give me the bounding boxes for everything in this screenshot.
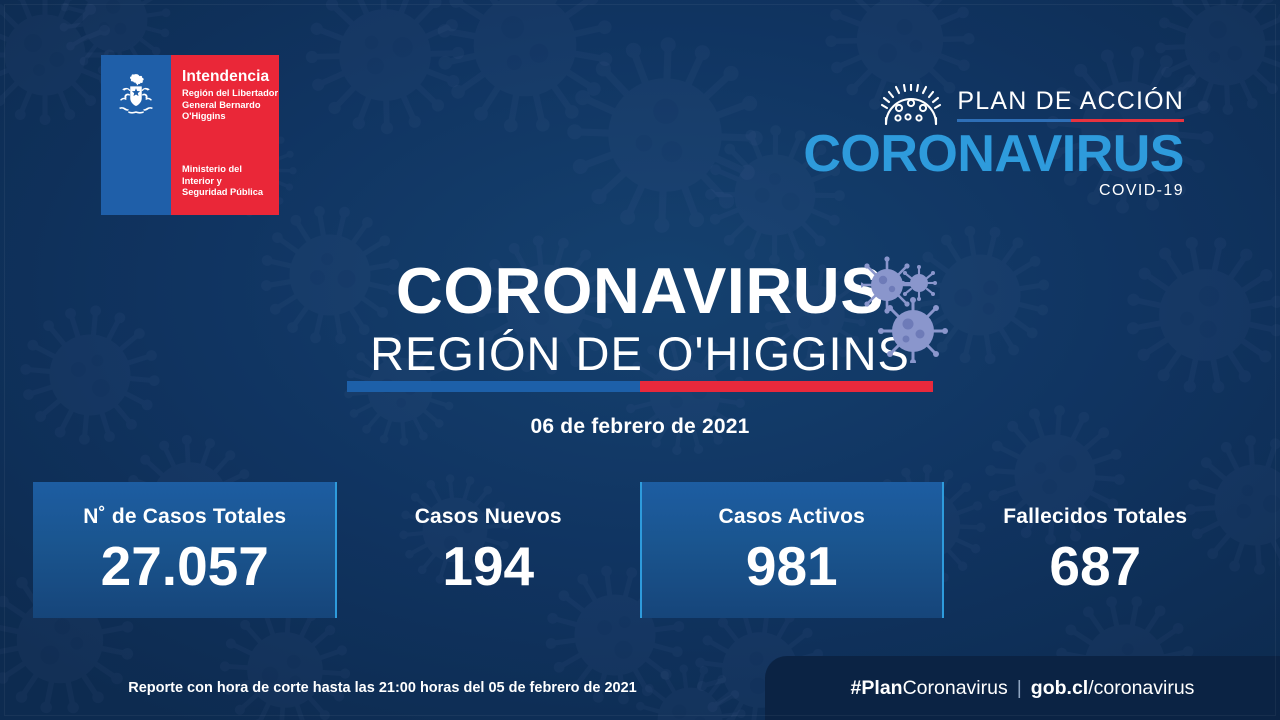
card-accent-left [640,482,642,618]
plan-brand-row: PLAN DE ACCIÓN [803,84,1184,126]
logo-red-panel: Intendencia Región del Libertador Genera… [171,55,279,215]
footer: Reporte con hora de corte hasta las 21:0… [0,656,1280,720]
virus-cluster-icon [861,253,953,363]
page-title: CORONAVIRUS [0,258,1280,323]
stat-value: 981 [746,539,838,594]
stat-label: Casos Nuevos [415,506,562,527]
footer-links-panel: #PlanCoronavirus | gob.cl/coronavirus [765,656,1280,720]
plan-rule-red [1071,119,1184,122]
stat-card-2: Casos Activos981 [640,482,944,618]
logo-subtitle: Región del Libertador General Bernardo O… [182,88,279,123]
footer-cutoff-note: Reporte con hora de corte hasta las 21:0… [0,656,765,720]
website-path: /coronavirus [1088,677,1194,699]
brand-covid19-label: COVID-19 [803,182,1184,200]
stat-card-0: N˚ de Casos Totales27.057 [33,482,337,618]
hashtag-bold: #Plan [851,677,903,699]
plan-de-accion-label: PLAN DE ACCIÓN [957,89,1184,114]
government-logo: Intendencia Región del Libertador Genera… [101,55,279,215]
logo-title: Intendencia [182,69,279,85]
stat-card-3: Fallecidos Totales687 [944,482,1248,618]
plan-label-column: PLAN DE ACCIÓN [957,89,1184,122]
statistics-row: N˚ de Casos Totales27.057Casos Nuevos194… [33,482,1247,618]
logo-subtitle-line: General Bernardo [182,100,279,112]
logo-ministry: Ministerio del Interior y Seguridad Públ… [182,164,279,199]
stat-label: Casos Activos [718,506,865,527]
stat-label: Fallecidos Totales [1003,506,1187,527]
website-domain: gob.cl [1031,677,1088,699]
plan-rule-blue [957,119,1070,122]
hashtag-rest: Coronavirus [903,677,1008,699]
stat-card-1: Casos Nuevos194 [337,482,641,618]
footer-separator: | [1017,677,1022,700]
logo-blue-panel [101,55,171,215]
brand-coronavirus-word: CORONAVIRUS [803,128,1184,181]
stat-value: 687 [1049,539,1141,594]
plan-coronavirus-brand: PLAN DE ACCIÓN CORONAVIRUS COVID-19 [803,84,1184,200]
stat-label: N˚ de Casos Totales [83,506,286,527]
logo-ministry-line: Interior y [182,176,279,188]
footer-website-link[interactable]: gob.cl/coronavirus [1031,677,1195,700]
title-divider-rule [347,381,933,392]
logo-subtitle-line: O'Higgins [182,111,279,123]
stat-value: 194 [442,539,534,594]
plan-divider-rule [957,119,1184,122]
logo-ministry-line: Ministerio del [182,164,279,176]
stat-value: 27.057 [101,539,269,594]
hashtag-plancoronavirus: #PlanCoronavirus [851,677,1008,700]
report-date: 06 de febrero de 2021 [0,415,1280,439]
page-title-block: CORONAVIRUS REGIÓN DE O'HIGGINS [0,258,1280,377]
chile-coat-of-arms-icon [113,69,159,119]
title-rule-red [640,381,933,392]
infographic-canvas: Intendencia Región del Libertador Genera… [0,0,1280,720]
page-subtitle: REGIÓN DE O'HIGGINS [0,330,1280,377]
logo-ministry-line: Seguridad Pública [182,187,279,199]
coronavirus-outline-icon [878,84,944,126]
title-rule-blue [347,381,640,392]
logo-subtitle-line: Región del Libertador [182,88,279,100]
